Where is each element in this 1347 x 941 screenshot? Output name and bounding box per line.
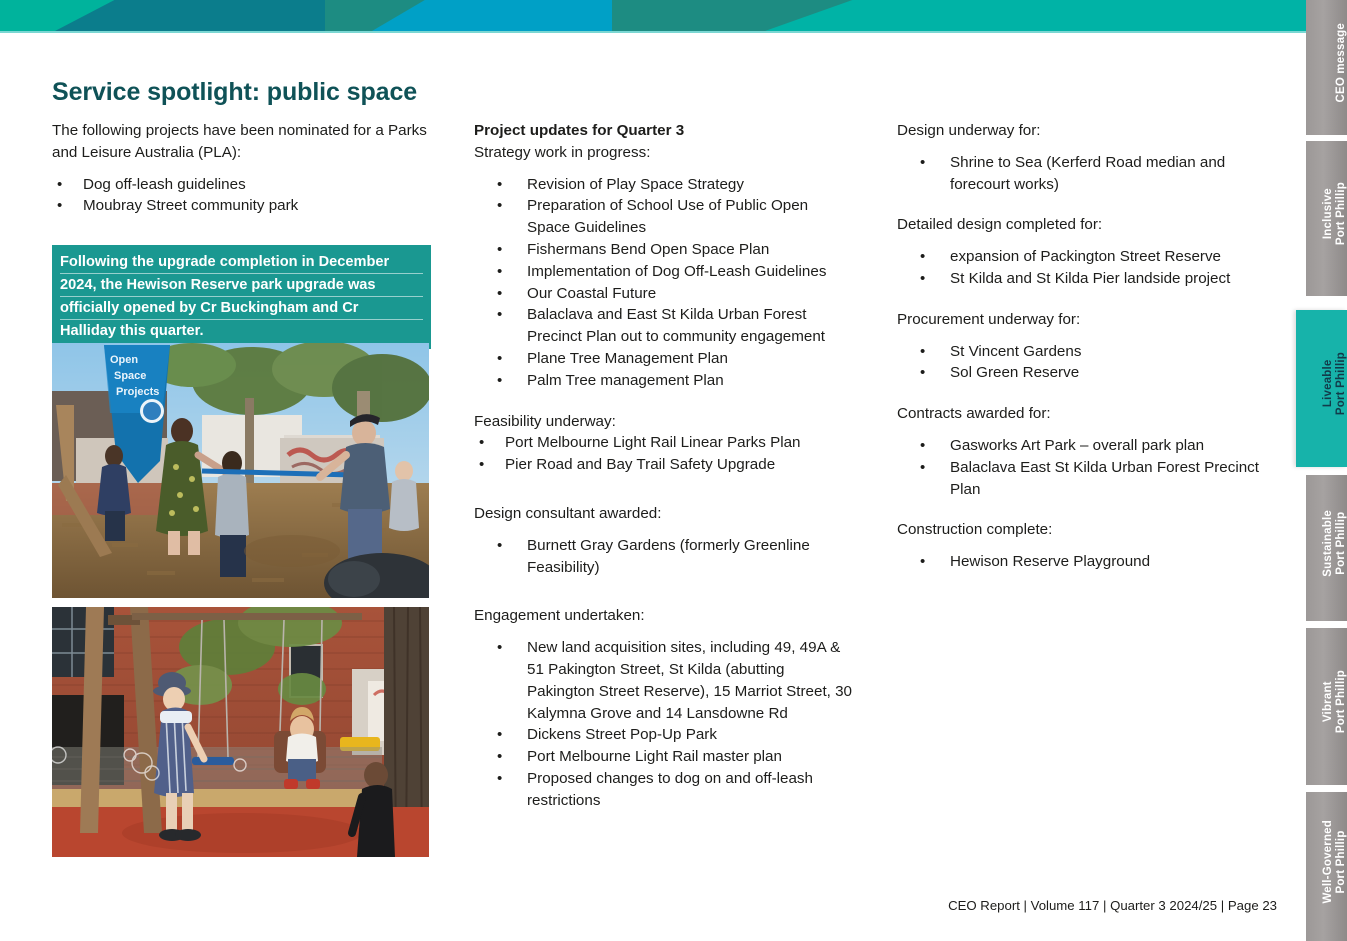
contracts-awarded-list: Gasworks Art Park – overall park plan Ba… (897, 435, 1277, 500)
detailed-design-list: expansion of Packington Street Reserve S… (897, 246, 1277, 290)
tab-label: Liveable Port Phillip (1322, 352, 1347, 415)
middle-column: Project updates for Quarter 3 Strategy w… (474, 120, 854, 812)
section-title-design-underway: Design underway for: (897, 120, 1277, 142)
tab-inclusive-port-phillip[interactable]: Inclusive Port Phillip (1306, 141, 1347, 296)
tab-label: Sustainable Port Phillip (1322, 510, 1347, 577)
left-column: The following projects have been nominat… (52, 120, 432, 349)
list-item: St Kilda and St Kilda Pier landside proj… (897, 268, 1277, 290)
photo-playground-swings (52, 607, 429, 857)
feasibility-list: Port Melbourne Light Rail Linear Parks P… (474, 432, 854, 476)
intro-paragraph: The following projects have been nominat… (52, 120, 432, 164)
svg-text:Open: Open (110, 354, 138, 366)
engagement-list: New land acquisition sites, including 49… (474, 637, 854, 811)
section-title-contracts-awarded: Contracts awarded for: (897, 403, 1277, 425)
svg-text:Space: Space (114, 370, 146, 382)
section-tab-rail: CEO message Inclusive Port Phillip Livea… (1300, 0, 1347, 941)
report-page: CEO message Inclusive Port Phillip Livea… (0, 0, 1347, 941)
banner-underline (0, 31, 1311, 33)
list-item: Fishermans Bend Open Space Plan (474, 239, 854, 261)
middle-column-heading: Project updates for Quarter 3 (474, 120, 854, 142)
page-footer: CEO Report | Volume 117 | Quarter 3 2024… (948, 898, 1277, 913)
list-item: Proposed changes to dog on and off-leash… (474, 768, 854, 812)
tab-vibrant-port-phillip[interactable]: Vibrant Port Phillip (1306, 628, 1347, 785)
list-item: St Vincent Gardens (897, 341, 1277, 363)
procurement-list: St Vincent Gardens Sol Green Reserve (897, 341, 1277, 385)
section-title-procurement: Procurement underway for: (897, 309, 1277, 331)
list-item: Port Melbourne Light Rail Linear Parks P… (474, 432, 854, 454)
list-item: Dickens Street Pop-Up Park (474, 724, 854, 746)
list-item: Balaclava East St Kilda Urban Forest Pre… (897, 457, 1277, 501)
list-item: Sol Green Reserve (897, 362, 1277, 384)
photo-park-opening-graphic: Open Space Projects (52, 343, 429, 598)
nominations-list: Dog off-leash guidelines Moubray Street … (52, 174, 432, 218)
list-item: Burnett Gray Gardens (formerly Greenline… (474, 535, 854, 579)
page-title: Service spotlight: public space (52, 78, 417, 107)
callout-line: 2024, the Hewison Reserve park upgrade w… (60, 274, 423, 297)
header-banner (0, 0, 1311, 31)
tab-liveable-port-phillip[interactable]: Liveable Port Phillip (1296, 310, 1347, 467)
tab-label: Vibrant Port Phillip (1322, 670, 1347, 733)
banner-shape-6 (765, 0, 1311, 31)
list-item: Balaclava and East St Kilda Urban Forest… (474, 304, 854, 348)
section-title-design-consultant: Design consultant awarded: (474, 503, 854, 525)
callout-line: officially opened by Cr Buckingham and C… (60, 297, 423, 320)
list-item: Preparation of School Use of Public Open… (474, 195, 854, 239)
callout-line: Halliday this quarter. (60, 320, 423, 342)
design-underway-list: Shrine to Sea (Kerferd Road median and f… (897, 152, 1277, 196)
list-item: New land acquisition sites, including 49… (474, 637, 854, 724)
strategy-list: Revision of Play Space Strategy Preparat… (474, 174, 854, 392)
svg-text:Projects: Projects (116, 386, 159, 398)
tab-sustainable-port-phillip[interactable]: Sustainable Port Phillip (1306, 475, 1347, 621)
list-item: Pier Road and Bay Trail Safety Upgrade (474, 454, 854, 476)
list-item: Shrine to Sea (Kerferd Road median and f… (897, 152, 1277, 196)
section-title-detailed-design: Detailed design completed for: (897, 214, 1277, 236)
hewison-reserve-callout: Following the upgrade completion in Dece… (52, 245, 431, 349)
design-consultant-list: Burnett Gray Gardens (formerly Greenline… (474, 535, 854, 579)
tab-label: CEO message (1335, 23, 1347, 103)
construction-complete-list: Hewison Reserve Playground (897, 551, 1277, 573)
list-item: Palm Tree management Plan (474, 370, 854, 392)
callout-line: Following the upgrade completion in Dece… (60, 251, 423, 274)
tab-ceo-message[interactable]: CEO message (1306, 0, 1347, 135)
list-item: Revision of Play Space Strategy (474, 174, 854, 196)
list-item: Our Coastal Future (474, 283, 854, 305)
right-column: Design underway for: Shrine to Sea (Kerf… (897, 120, 1277, 573)
list-item: Implementation of Dog Off-Leash Guidelin… (474, 261, 854, 283)
tab-well-governed-port-phillip[interactable]: Well-Governed Port Phillip (1306, 792, 1347, 941)
photo-playground-swings-graphic (52, 607, 429, 857)
list-item: Dog off-leash guidelines (52, 174, 432, 196)
list-item: Plane Tree Management Plan (474, 348, 854, 370)
tab-label: Inclusive Port Phillip (1322, 182, 1347, 245)
list-item: Port Melbourne Light Rail master plan (474, 746, 854, 768)
list-item: Hewison Reserve Playground (897, 551, 1277, 573)
section-title-construction-complete: Construction complete: (897, 519, 1277, 541)
section-title-strategy: Strategy work in progress: (474, 142, 854, 164)
list-item: Gasworks Art Park – overall park plan (897, 435, 1277, 457)
list-item: expansion of Packington Street Reserve (897, 246, 1277, 268)
list-item: Moubray Street community park (52, 195, 432, 217)
section-title-engagement: Engagement undertaken: (474, 605, 854, 627)
photo-park-opening: Open Space Projects (52, 343, 429, 598)
tab-label: Well-Governed Port Phillip (1322, 820, 1347, 904)
section-title-feasibility: Feasibility underway: (474, 411, 854, 433)
